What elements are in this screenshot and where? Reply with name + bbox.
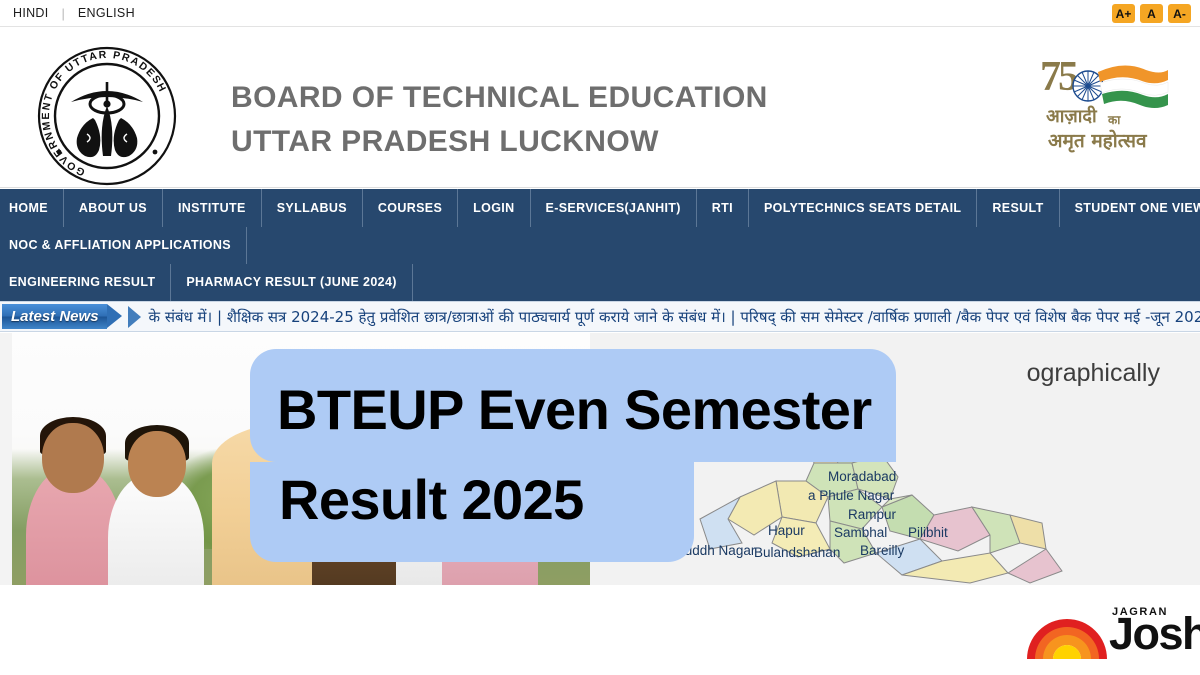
nav-item-noc-affliation-applications[interactable]: NOC & AFFLIATION APPLICATIONS xyxy=(0,227,247,264)
hero-headline: BTEUP Even Semester Result 2025 xyxy=(0,349,1200,562)
ticker-text[interactable]: के संबंध में। | शैक्षिक सत्र 2024-25 हेत… xyxy=(141,307,1200,327)
nav-item-home[interactable]: HOME xyxy=(0,189,64,227)
nav-item-student-one-view[interactable]: STUDENT ONE VIEW xyxy=(1060,189,1200,227)
language-link-hindi[interactable]: HINDI xyxy=(13,6,62,20)
nav-item-login[interactable]: LOGIN xyxy=(458,189,530,227)
language-switcher: HINDI | ENGLISH xyxy=(0,6,148,21)
site-header: GOVERNMENT OF UTTAR PRADESH BOARD OF TEC… xyxy=(0,28,1200,188)
headline-row-1: BTEUP Even Semester xyxy=(250,349,1200,462)
nav-item-result[interactable]: RESULT xyxy=(977,189,1059,227)
latest-news-ticker: Latest News के संबंध में। | शैक्षिक सत्र… xyxy=(0,301,1200,332)
azadi-hindi-line-1: आज़ादी xyxy=(1046,105,1098,127)
nav-item-polytechnics-seats-detail[interactable]: POLYTECHNICS SEATS DETAIL xyxy=(749,189,977,227)
font-size-controls: A+ A A- xyxy=(1112,4,1191,23)
nav-item-courses[interactable]: COURSES xyxy=(363,189,458,227)
footer: JAGRAN Josh xyxy=(0,585,1200,675)
nav-row-3: ENGINEERING RESULT PHARMACY RESULT (JUNE… xyxy=(0,264,1200,301)
language-link-english[interactable]: ENGLISH xyxy=(78,6,148,20)
azadi-75-text: 75 xyxy=(1040,54,1078,100)
ticker-chevron-icon xyxy=(128,306,141,328)
nav-item-engineering-result[interactable]: ENGINEERING RESULT xyxy=(0,264,171,301)
font-decrease-button[interactable]: A- xyxy=(1168,4,1191,23)
page-title: BOARD OF TECHNICAL EDUCATION UTTAR PRADE… xyxy=(231,76,768,164)
nav-item-institute[interactable]: INSTITUTE xyxy=(163,189,262,227)
logo-brand-main: Josh xyxy=(1109,611,1200,656)
top-utility-bar: HINDI | ENGLISH A+ A A- xyxy=(0,0,1200,27)
latest-news-badge: Latest News xyxy=(2,304,107,329)
nav-item-rti[interactable]: RTI xyxy=(697,189,749,227)
board-title-line-2: UTTAR PRADESH LUCKNOW xyxy=(231,120,768,164)
nav-row-2: NOC & AFFLIATION APPLICATIONS xyxy=(0,227,1200,264)
azadi-ka-amrit-mahotsav-logo-icon: 75 आज़ादी का अमृत महोत्सव xyxy=(1026,50,1178,154)
jagran-josh-sunburst-icon xyxy=(1025,609,1109,667)
azadi-hindi-ka: का xyxy=(1107,113,1121,127)
font-increase-button[interactable]: A+ xyxy=(1112,4,1135,23)
nav-item-pharmacy-result[interactable]: PHARMACY RESULT (JUNE 2024) xyxy=(171,264,412,301)
hero-banner: ographically xyxy=(0,333,1200,585)
nav-item-syllabus[interactable]: SYLLABUS xyxy=(262,189,363,227)
nav-item-about-us[interactable]: ABOUT US xyxy=(64,189,163,227)
uttar-pradesh-emblem-icon: GOVERNMENT OF UTTAR PRADESH xyxy=(37,46,177,186)
font-normal-button[interactable]: A xyxy=(1140,4,1163,23)
main-navigation: HOME ABOUT US INSTITUTE SYLLABUS COURSES… xyxy=(0,189,1200,303)
azadi-hindi-line-2: अमृत महोत्सव xyxy=(1048,129,1148,153)
language-separator: | xyxy=(62,6,78,21)
headline-row-2: Result 2025 xyxy=(250,462,1200,562)
nav-row-1: HOME ABOUT US INSTITUTE SYLLABUS COURSES… xyxy=(0,189,1200,227)
headline-line-1: BTEUP Even Semester xyxy=(250,349,896,462)
board-title-line-1: BOARD OF TECHNICAL EDUCATION xyxy=(231,76,768,120)
jagran-josh-logo[interactable]: JAGRAN Josh xyxy=(1025,603,1185,665)
page-root: HINDI | ENGLISH A+ A A- GOVERNMENT OF UT… xyxy=(0,0,1200,675)
nav-item-e-services[interactable]: E-SERVICES(JANHIT) xyxy=(531,189,697,227)
headline-line-2: Result 2025 xyxy=(250,462,694,562)
